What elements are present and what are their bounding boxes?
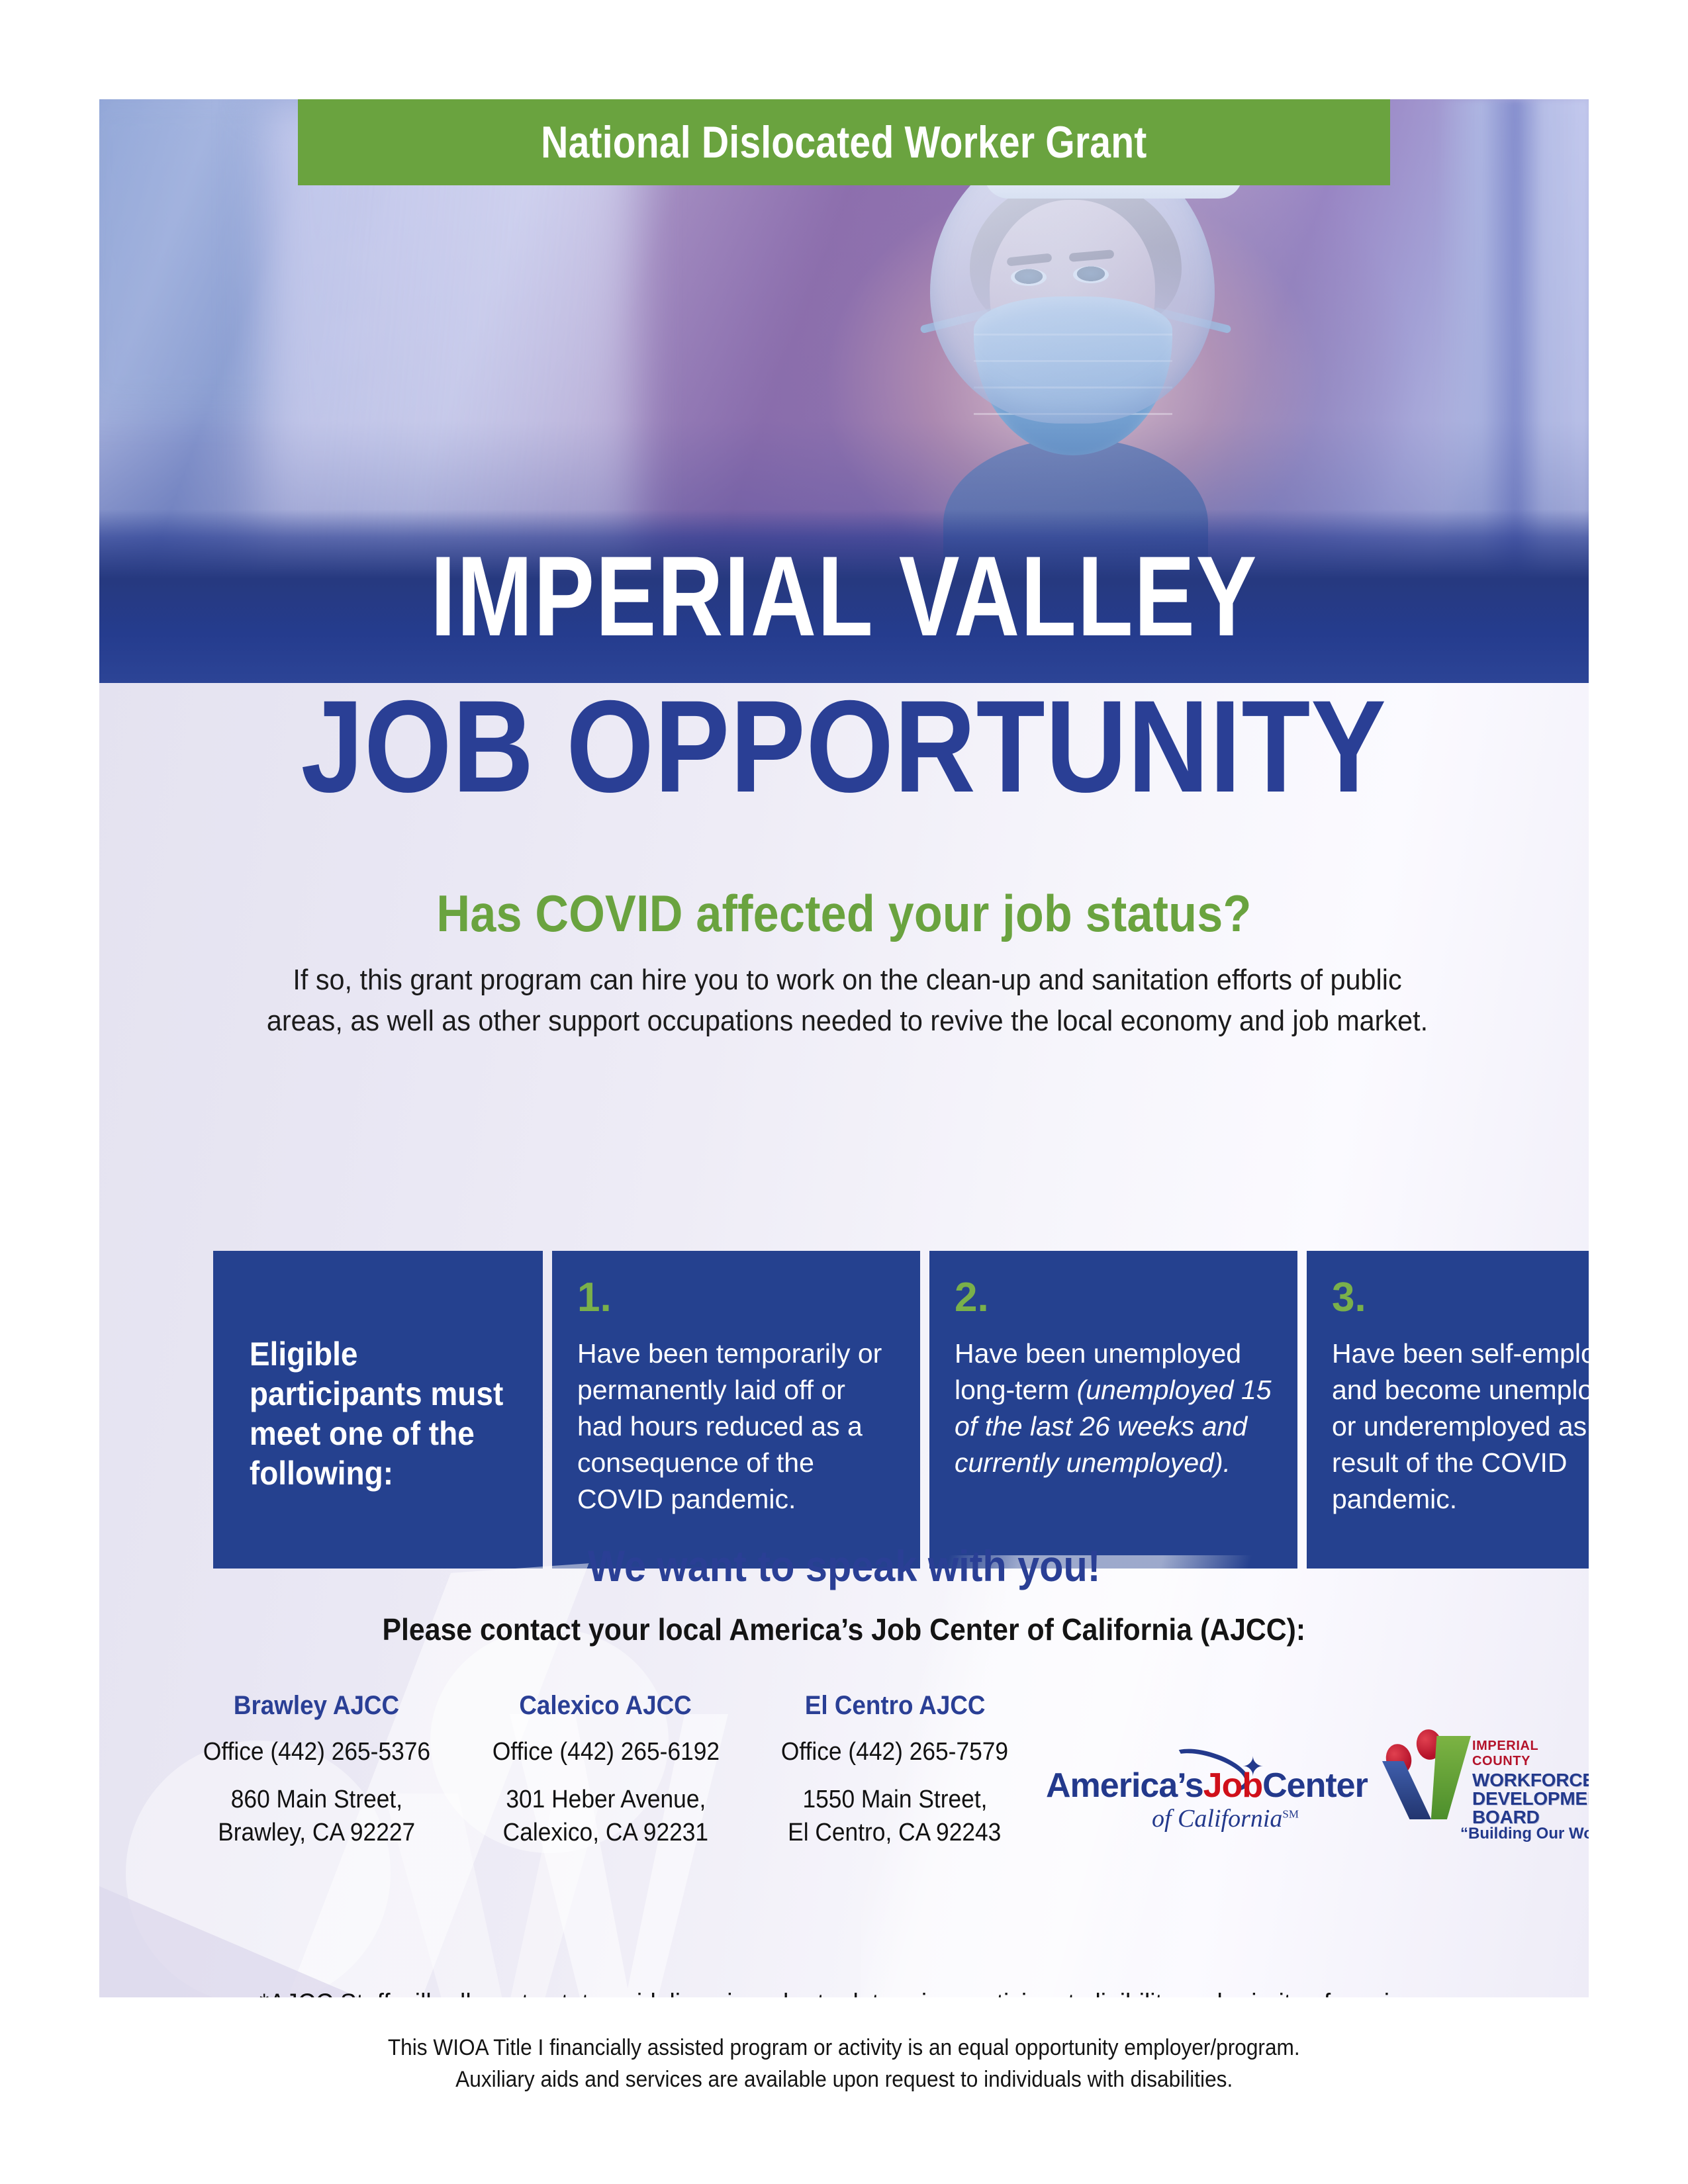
legal-footer: This WIOA Title I financially assisted p… xyxy=(0,2032,1688,2096)
wdb-chevron-blue-icon xyxy=(1382,1761,1431,1819)
contact-subheading: Please contact your local America’s Job … xyxy=(99,1612,1589,1647)
legal-line-2: Auxiliary aids and services are availabl… xyxy=(0,2064,1688,2095)
eligibility-lead-box: Eligible participants must meet one of t… xyxy=(213,1251,543,1569)
hero-photo-region: National Dislocated Worker Grant IMPERIA… xyxy=(99,99,1589,683)
office-brawley-name-text: Brawley AJCC xyxy=(234,1691,399,1721)
ajcc-servicemark: SM xyxy=(1282,1807,1299,1820)
wdb-wordmark: IMPERIAL COUNTY WORKFORCE DEVELOPMENT BO… xyxy=(1472,1739,1578,1827)
legal-line-2-text: Auxiliary aids and services are availabl… xyxy=(455,2064,1233,2095)
ajcc-part2: Job xyxy=(1203,1766,1262,1805)
watermark-triangle-bottom-left xyxy=(99,1886,377,1997)
imperial-valley-heading: IMPERIAL VALLEY xyxy=(430,539,1258,653)
eligibility-number-1: 1. xyxy=(577,1277,895,1318)
grant-banner: National Dislocated Worker Grant xyxy=(298,99,1390,185)
eligibility-item-1: 1. Have been temporarily or permanently … xyxy=(552,1251,920,1569)
speak-heading-text: We want to speak with you! xyxy=(588,1541,1100,1591)
office-el-centro-address-1: 1550 Main Street, xyxy=(750,1783,1039,1816)
ajcc-wordmark: America’sJobCenter xyxy=(1046,1766,1377,1805)
intro-paragraph-text: If so, this grant program can hire you t… xyxy=(262,960,1432,1042)
imperial-valley-band: IMPERIAL VALLEY xyxy=(99,510,1589,683)
office-el-centro-phone-text: Office (442) 265-7579 xyxy=(781,1735,1008,1768)
job-opportunity-heading-text: JOB OPPORTUNITY xyxy=(301,685,1387,808)
wdb-people-icon xyxy=(1382,1727,1468,1819)
eligibility-number-2: 2. xyxy=(955,1277,1272,1318)
eligibility-text-2: Have been unemployed long-term (unemploy… xyxy=(955,1336,1272,1481)
ajcc-subtitle: of CaliforniaSM xyxy=(1152,1804,1299,1833)
eligibility-text-3-regular: Have been self-employed and become unemp… xyxy=(1332,1338,1589,1514)
office-calexico-address-1-text: 301 Heber Avenue, xyxy=(506,1783,706,1816)
wdb-line-3: BOARD xyxy=(1472,1808,1578,1827)
legal-line-1-text: This WIOA Title I financially assisted p… xyxy=(388,2032,1300,2064)
office-brawley-phone-text: Office (442) 265-5376 xyxy=(203,1735,430,1768)
eligibility-row: Eligible participants must meet one of t… xyxy=(213,1251,1589,1569)
office-el-centro-name-text: El Centro AJCC xyxy=(804,1691,985,1721)
wdb-line-1: WORKFORCE xyxy=(1472,1771,1578,1790)
eligibility-item-3: 3. Have been self-employed and become un… xyxy=(1307,1251,1589,1569)
grant-banner-title: National Dislocated Worker Grant xyxy=(541,116,1147,168)
ajcc-subtitle-text: of California xyxy=(1152,1805,1282,1833)
office-calexico: Calexico AJCC Office (442) 265-6192 301 … xyxy=(461,1691,751,1849)
legal-line-1: This WIOA Title I financially assisted p… xyxy=(0,2032,1688,2064)
office-calexico-name-text: Calexico AJCC xyxy=(520,1691,692,1721)
wdb-tagline: “Building Our Workforce” xyxy=(1460,1825,1586,1843)
office-brawley: Brawley AJCC Office (442) 265-5376 860 M… xyxy=(172,1691,461,1849)
flyer-page: National Dislocated Worker Grant IMPERIA… xyxy=(0,0,1688,2184)
contact-subheading-text: Please contact your local America’s Job … xyxy=(383,1612,1306,1647)
office-brawley-address-1-text: 860 Main Street, xyxy=(231,1783,402,1816)
ajcc-part1: America’s xyxy=(1046,1766,1203,1805)
office-brawley-address-2: Brawley, CA 92227 xyxy=(172,1816,461,1849)
office-brawley-name: Brawley AJCC xyxy=(172,1691,461,1721)
office-el-centro: El Centro AJCC Office (442) 265-7579 155… xyxy=(750,1691,1039,1849)
office-el-centro-name: El Centro AJCC xyxy=(750,1691,1039,1721)
eligibility-lead-text: Eligible participants must meet one of t… xyxy=(250,1334,506,1493)
covid-question-heading: Has COVID affected your job status? xyxy=(99,884,1589,944)
office-brawley-address-1: 860 Main Street, xyxy=(172,1783,461,1816)
eligibility-number-3: 3. xyxy=(1332,1277,1589,1318)
eligibility-note-text: *AJCC Staff will adhere to state guideli… xyxy=(259,1989,1434,1997)
covid-question-text: Has COVID affected your job status? xyxy=(436,884,1251,944)
imperial-county-wdb-logo: IMPERIAL COUNTY WORKFORCE DEVELOPMENT BO… xyxy=(1382,1724,1574,1856)
office-calexico-phone[interactable]: Office (442) 265-6192 xyxy=(461,1735,751,1768)
office-el-centro-address-2-text: El Centro, CA 92243 xyxy=(788,1816,1002,1849)
flyer-canvas: National Dislocated Worker Grant IMPERIA… xyxy=(99,99,1589,1997)
job-opportunity-heading: JOB OPPORTUNITY xyxy=(99,685,1589,808)
office-calexico-name: Calexico AJCC xyxy=(461,1691,751,1721)
wdb-county-label: IMPERIAL COUNTY xyxy=(1472,1739,1578,1769)
office-el-centro-address-2: El Centro, CA 92243 xyxy=(750,1816,1039,1849)
logo-row: ✦ America’sJobCenter of CaliforniaSM IMP… xyxy=(1046,1724,1575,1856)
office-el-centro-phone[interactable]: Office (442) 265-7579 xyxy=(750,1735,1039,1768)
speak-heading: We want to speak with you! xyxy=(99,1541,1589,1591)
eligibility-text-1: Have been temporarily or permanently lai… xyxy=(577,1336,895,1518)
office-calexico-address-2: Calexico, CA 92231 xyxy=(461,1816,751,1849)
eligibility-item-2: 2. Have been unemployed long-term (unemp… xyxy=(929,1251,1297,1569)
office-list: Brawley AJCC Office (442) 265-5376 860 M… xyxy=(172,1691,1039,1849)
americas-job-center-logo: ✦ America’sJobCenter of CaliforniaSM xyxy=(1046,1741,1377,1840)
eligibility-text-3: Have been self-employed and become unemp… xyxy=(1332,1336,1589,1518)
intro-paragraph: If so, this grant program can hire you t… xyxy=(225,960,1470,1042)
office-calexico-address-2-text: Calexico, CA 92231 xyxy=(503,1816,708,1849)
wdb-line-2: DEVELOPMENT xyxy=(1472,1790,1578,1808)
eligibility-note: *AJCC Staff will adhere to state guideli… xyxy=(199,1989,1496,1997)
office-calexico-phone-text: Office (442) 265-6192 xyxy=(492,1735,719,1768)
eligibility-text-1-regular: Have been temporarily or permanently lai… xyxy=(577,1338,882,1514)
office-el-centro-address-1-text: 1550 Main Street, xyxy=(802,1783,987,1816)
office-calexico-address-1: 301 Heber Avenue, xyxy=(461,1783,751,1816)
ajcc-part3: Center xyxy=(1262,1766,1368,1805)
office-brawley-address-2-text: Brawley, CA 92227 xyxy=(218,1816,415,1849)
eligibility-lead-label: Eligible participants must meet one of t… xyxy=(238,1334,518,1493)
office-brawley-phone[interactable]: Office (442) 265-5376 xyxy=(172,1735,461,1768)
